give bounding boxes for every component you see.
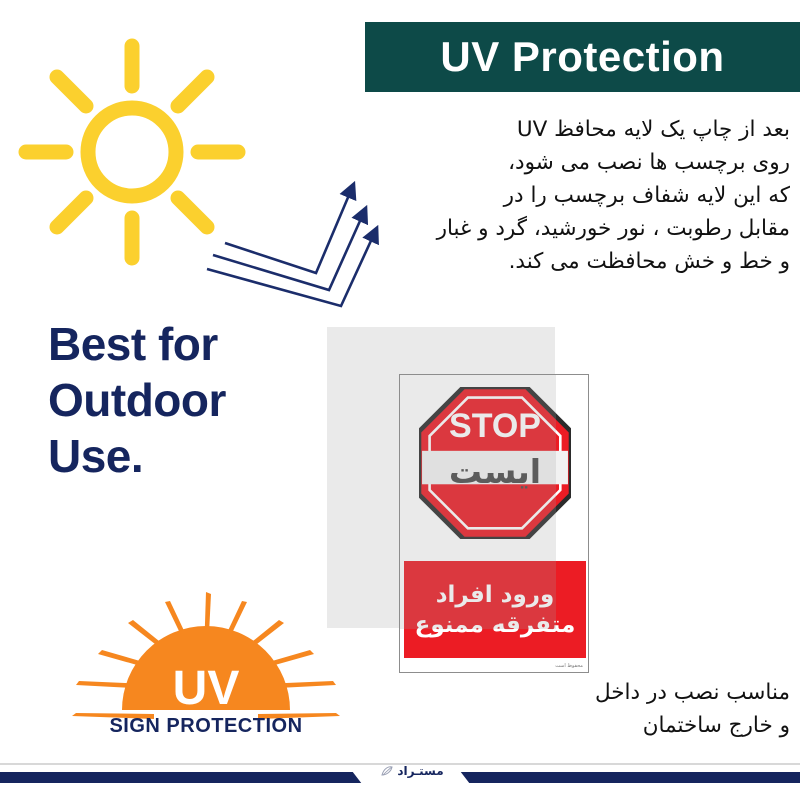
page-title: UV Protection [440,36,724,78]
poster-canvas: UV Protection بعد از چاپ یک لایه محافظ U… [0,0,800,800]
description-line: و خط و خش محافظت می کند. [370,245,790,278]
headline-line: Outdoor [48,372,348,428]
sign-card: STOP ایست ورود افراد متفرقه ممنوع محفوظ … [399,374,589,673]
warning-line: متفرقه ممنوع [415,610,576,640]
footer-brand-text: مستـراد [397,764,443,778]
stop-label-fa: ایست [419,453,571,491]
card-credit: محفوظ است [555,663,583,669]
usage-note-line: و خارج ساختمان [430,709,790,742]
usage-note-line: مناسب نصب در داخل [430,676,790,709]
warning-line: ورود افراد [436,580,555,610]
description-line: بعد از چاپ یک لایه محافظ UV [370,113,790,146]
warning-banner: ورود افراد متفرقه ممنوع [404,561,586,658]
logo-uv-text: UV [173,662,240,715]
description-line: روی برچسب ها نصب می شود، [370,146,790,179]
header-banner: UV Protection [365,22,800,92]
description-line: که این لایه شفاف برچسب را در [370,179,790,212]
uv-sign-protection-logo: UV SIGN PROTECTION [72,592,340,748]
leaf-swirl-icon [380,764,394,778]
usage-note: مناسب نصب در داخل و خارج ساختمان [430,676,790,742]
stop-sign-group: STOP ایست [400,383,589,543]
logo-sub-text: SIGN PROTECTION [109,715,302,737]
stop-label-en: STOP [419,409,571,443]
description-line: مقابل رطوبت ، نور خورشید، گرد و غبار [370,212,790,245]
reflection-arrows-icon [205,170,395,310]
description-paragraph: بعد از چاپ یک لایه محافظ UV روی برچسب ها… [370,113,790,278]
headline-line: Use. [48,428,348,484]
headline: Best for Outdoor Use. [48,316,348,484]
headline-line: Best for [48,316,348,372]
stop-octagon-icon: STOP ایست [419,387,571,539]
footer-brand: مستـراد [352,760,472,782]
